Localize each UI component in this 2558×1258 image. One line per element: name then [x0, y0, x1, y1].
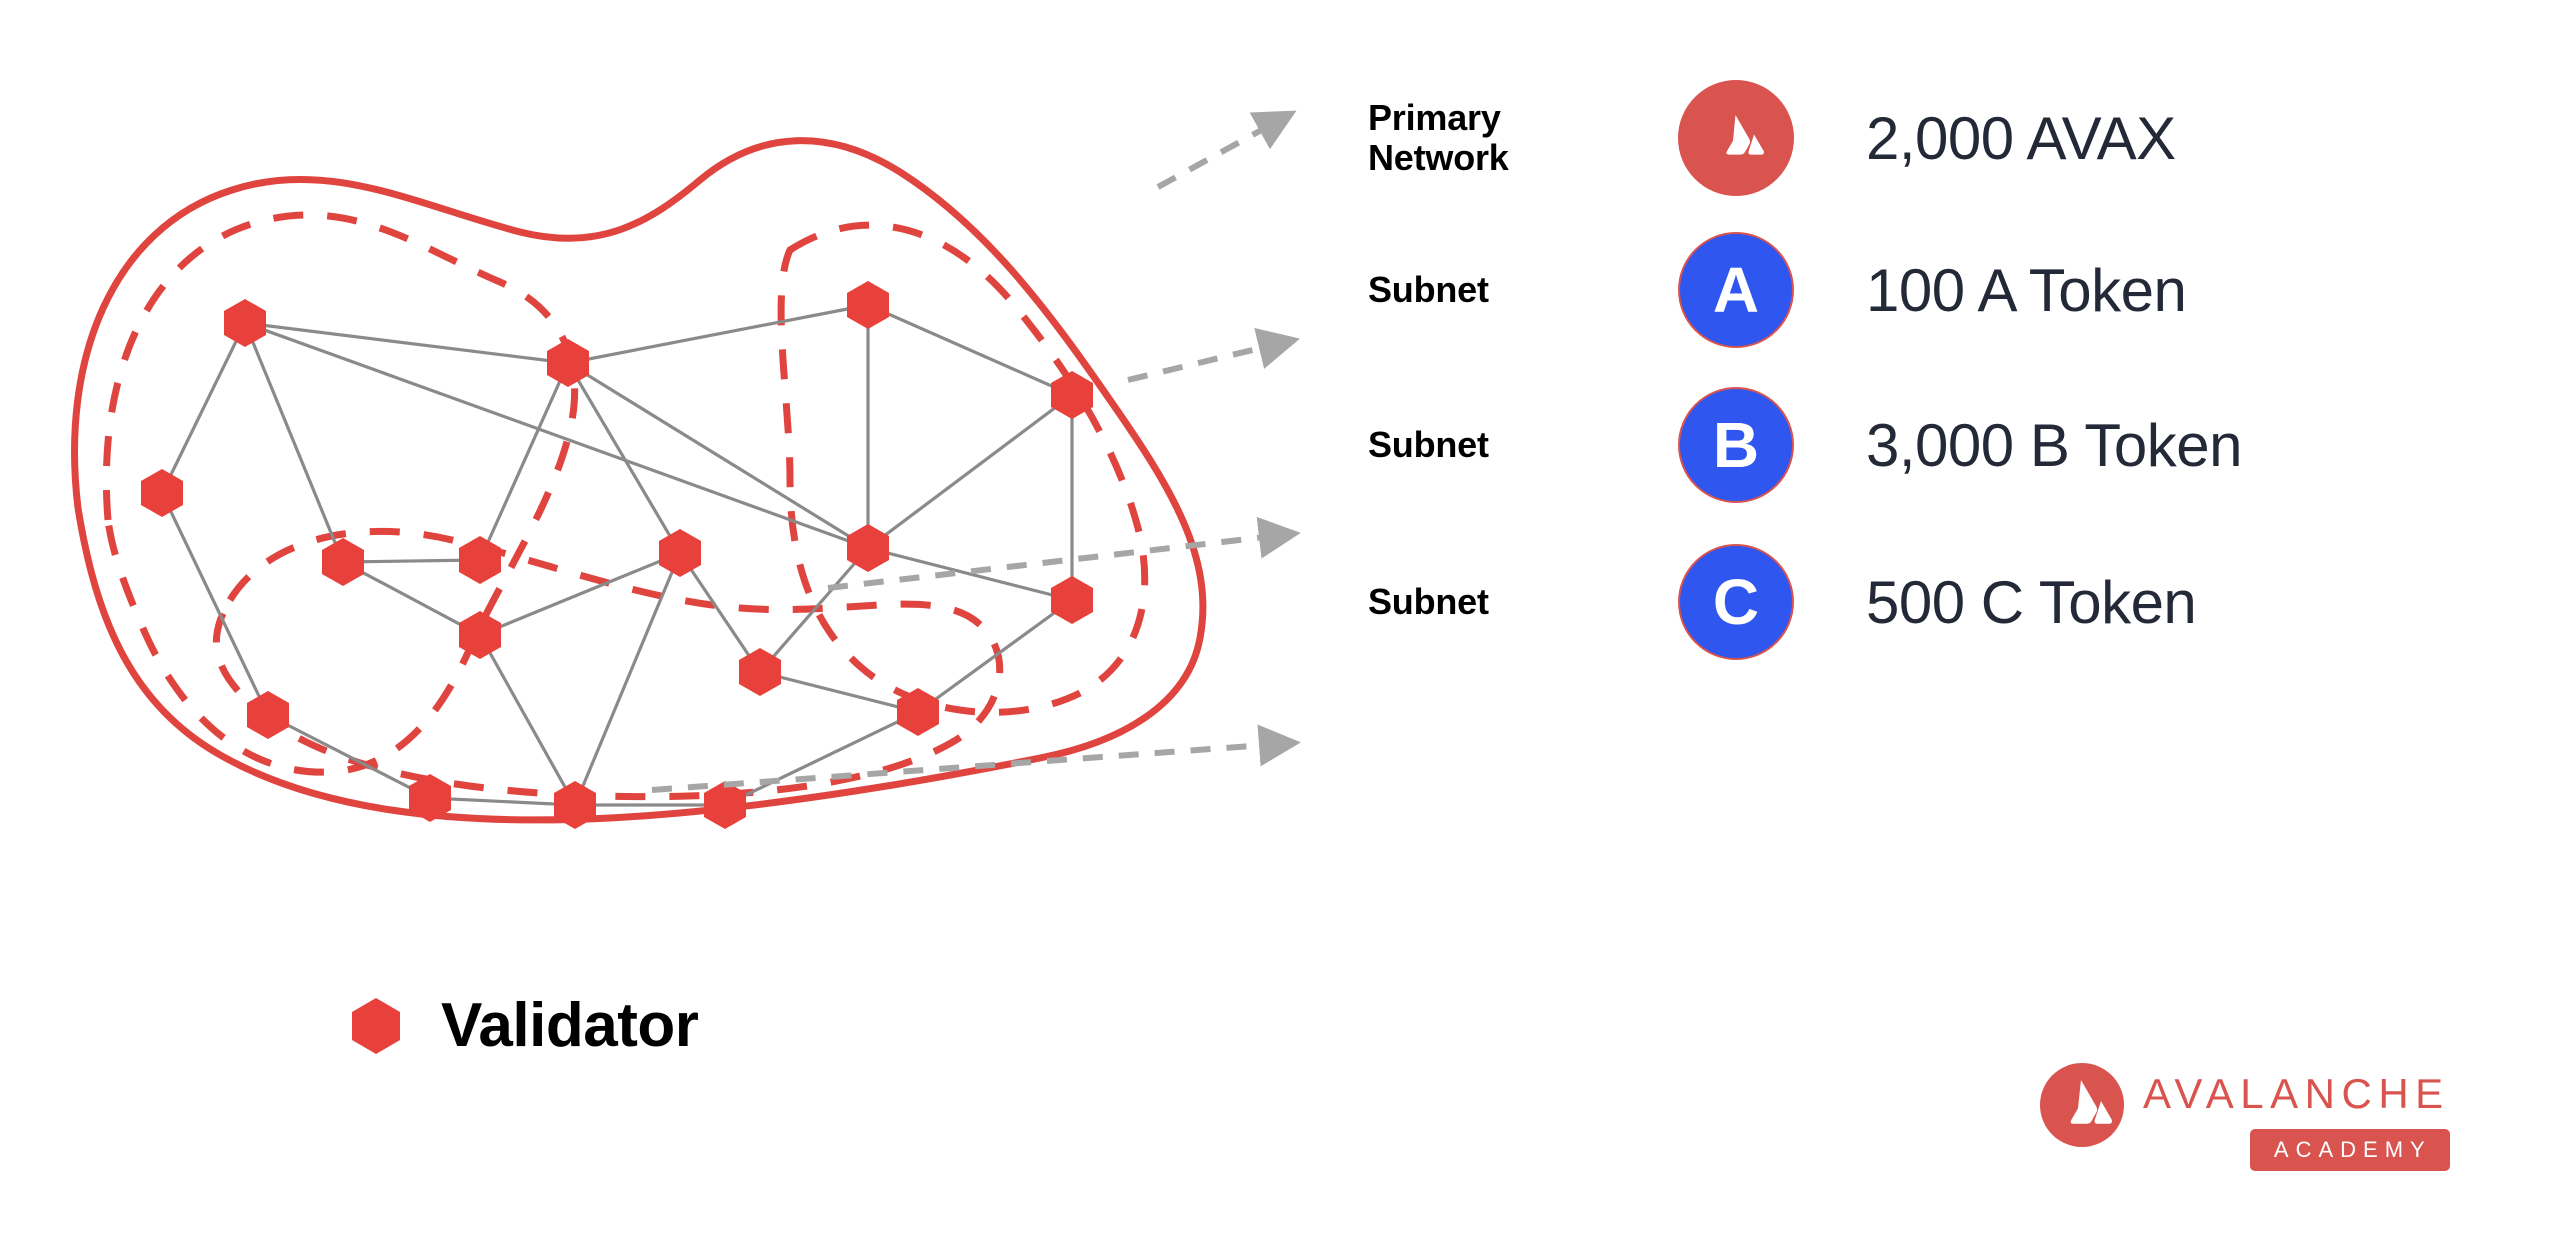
validator-node [247, 691, 289, 739]
row-label-line1: Subnet [1368, 425, 1668, 465]
list-item-subnet-a[interactable]: Subnet A 100 A Token [1368, 200, 2186, 380]
subnet-c-letter: C [1713, 570, 1759, 634]
academy-logo-text: AVALANCHE ACADEMY [2143, 1063, 2450, 1171]
amount-primary-network: 2,000 AVAX [1866, 104, 2176, 173]
validator-node [547, 339, 589, 387]
row-label-line1: Primary [1368, 98, 1668, 138]
diagram-canvas: Validator Primary Network 2,000 AVAX Sub… [0, 0, 2558, 1258]
academy-chip: ACADEMY [2250, 1129, 2450, 1171]
subnet-b-badge: B [1678, 387, 1794, 503]
row-label-subnet-c: Subnet [1368, 582, 1668, 622]
avalanche-logo-icon [1699, 101, 1773, 175]
validator-node [141, 469, 183, 517]
validator-node [1051, 576, 1093, 624]
subnet-c-badge: C [1678, 544, 1794, 660]
amount-subnet-a: 100 A Token [1866, 256, 2186, 325]
network-edges [162, 305, 1072, 805]
subnet-b-letter: B [1713, 413, 1759, 477]
subnet-a-letter: A [1713, 258, 1759, 322]
list-item-subnet-b[interactable]: Subnet B 3,000 B Token [1368, 355, 2242, 535]
validator-node [224, 299, 266, 347]
list-item-subnet-c[interactable]: Subnet C 500 C Token [1368, 512, 2196, 692]
arrow-to-subnet-c [652, 745, 1265, 790]
row-label-line2: Network [1368, 138, 1668, 178]
validator-node [847, 281, 889, 329]
validator-node [704, 781, 746, 829]
network-list: Primary Network 2,000 AVAX Subnet A 100 … [1368, 0, 2558, 1010]
avalanche-wordmark: AVALANCHE [2143, 1073, 2450, 1115]
avax-badge [1678, 80, 1794, 196]
arrow-to-primary-network [1158, 128, 1265, 187]
validator-node [659, 529, 701, 577]
row-label-subnet-a: Subnet [1368, 270, 1668, 310]
arrow-to-subnet-a [1128, 347, 1265, 380]
row-label-subnet-b: Subnet [1368, 425, 1668, 465]
hexagon-icon [345, 995, 407, 1057]
subnet-a-badge: A [1678, 232, 1794, 348]
row-label-primary-network: Primary Network [1368, 98, 1668, 179]
amount-subnet-c: 500 C Token [1866, 568, 2196, 637]
validator-legend-label: Validator [441, 995, 698, 1057]
network-diagram [0, 0, 1370, 1000]
validator-node [322, 538, 364, 586]
avalanche-logo-icon [2040, 1063, 2124, 1147]
avalanche-academy-logo: AVALANCHE ACADEMY [2040, 1063, 2450, 1171]
subnet-c-boundary [781, 225, 1145, 712]
validator-legend: Validator [345, 995, 698, 1057]
row-label-line1: Subnet [1368, 582, 1668, 622]
validator-node [459, 536, 501, 584]
row-label-line1: Subnet [1368, 270, 1668, 310]
amount-subnet-b: 3,000 B Token [1866, 411, 2242, 480]
